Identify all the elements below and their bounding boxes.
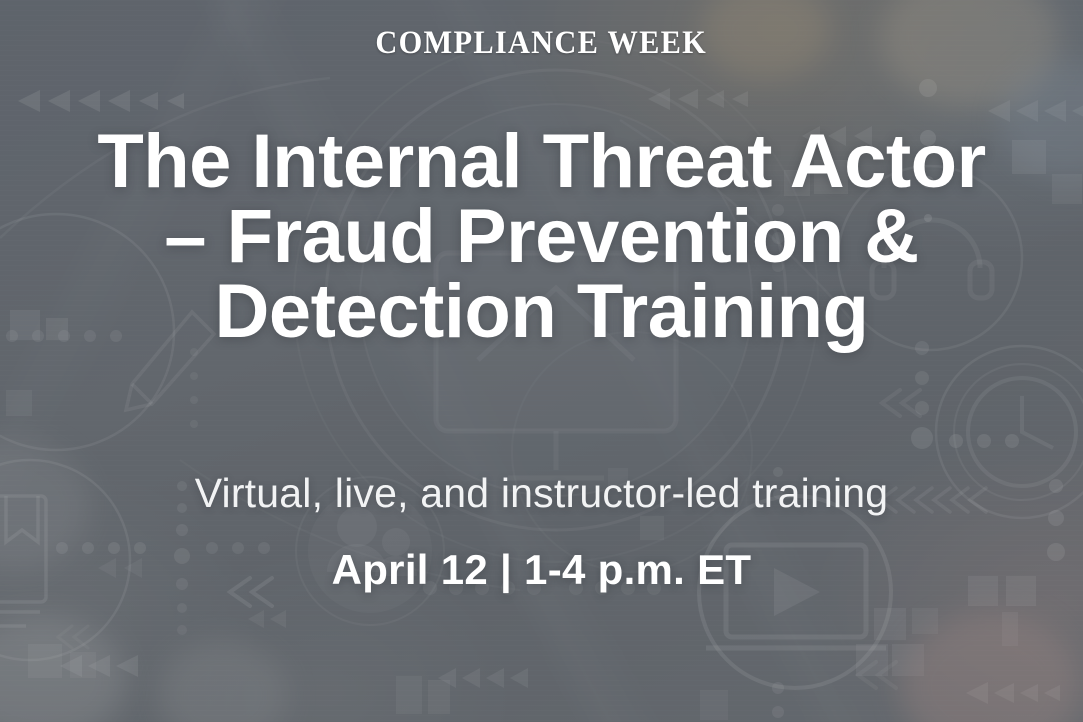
- event-date-time: April 12 | 1-4 p.m. ET: [332, 549, 752, 591]
- page-title-line-3: Detection Training: [19, 274, 1064, 349]
- training-promo-banner: COMPLIANCE WEEK The Internal Threat Acto…: [0, 0, 1083, 722]
- page-title-line-1: The Internal Threat Actor: [19, 124, 1064, 199]
- banner-content: COMPLIANCE WEEK The Internal Threat Acto…: [0, 0, 1083, 722]
- page-title-line-2: – Fraud Prevention &: [19, 199, 1064, 274]
- page-title: The Internal Threat Actor – Fraud Preven…: [19, 124, 1064, 350]
- compliance-week-logo: COMPLIANCE WEEK: [376, 27, 708, 60]
- event-format-subtitle: Virtual, live, and instructor-led traini…: [195, 473, 889, 514]
